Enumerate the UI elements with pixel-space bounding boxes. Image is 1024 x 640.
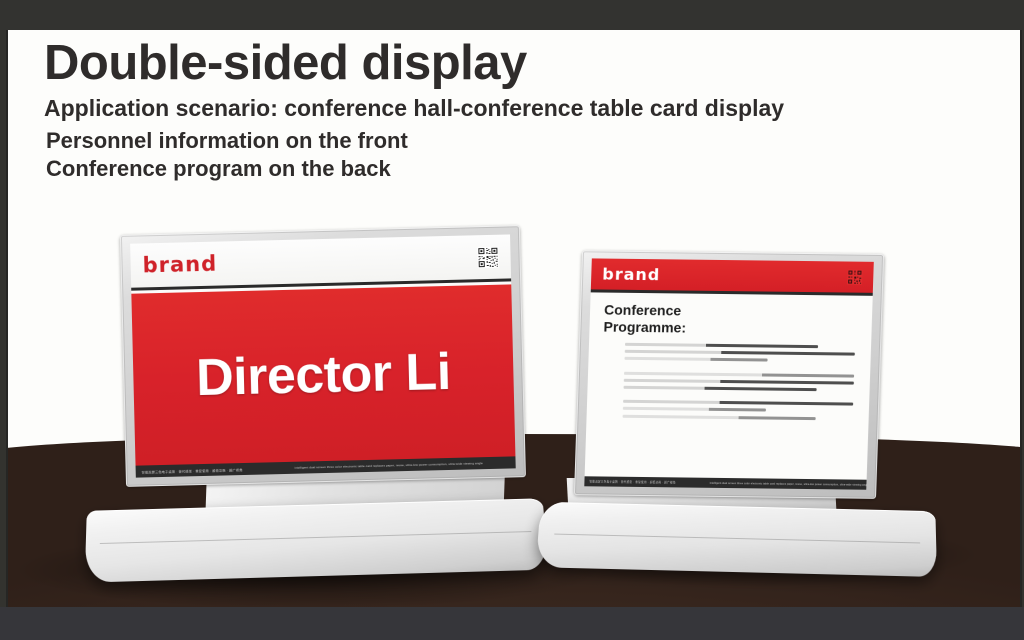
- programme-text-line: [625, 350, 855, 356]
- qr-code-icon: [847, 270, 862, 285]
- programme-text-line: [623, 407, 766, 412]
- front-screen-header: brand: [130, 234, 511, 290]
- front-screen-body: Director Li: [131, 284, 515, 465]
- page-title: Double-sided display: [44, 38, 978, 90]
- attendee-name: Director Li: [195, 342, 451, 408]
- front-stand-base: [85, 498, 549, 582]
- programme-body-text: [623, 343, 856, 420]
- back-card-display[interactable]: brand: [574, 250, 884, 499]
- programme-text-line: [624, 357, 767, 362]
- programme-text-line: [623, 414, 816, 419]
- qr-code-icon: [477, 246, 499, 268]
- front-card-display[interactable]: brand: [120, 225, 526, 487]
- screenshot-stage: Double-sided display Application scenari…: [0, 0, 1024, 640]
- programme-text-line: [625, 343, 818, 348]
- back-footer-cn: 智能双屏三色电子桌牌 · 替代纸张 · 重复使用 · 超低功耗 · 超广视角: [589, 479, 675, 484]
- subtitle-front: Personnel information on the front: [46, 127, 978, 155]
- back-screen-header: brand: [591, 258, 874, 295]
- programme-title: Conference Programme:: [603, 302, 858, 338]
- front-footer-en: intelligent dual screen three color elec…: [295, 461, 483, 470]
- slide-canvas: Double-sided display Application scenari…: [6, 30, 1022, 607]
- back-device-screen[interactable]: brand: [584, 258, 874, 489]
- brand-logo: brand: [142, 252, 217, 278]
- back-stand-base: [536, 502, 937, 577]
- back-screen-body: Conference Programme:: [585, 295, 873, 478]
- heading-block: Double-sided display Application scenari…: [38, 38, 978, 183]
- letterbox-bar-top: [0, 0, 1024, 30]
- programme-title-line-2: Programme:: [603, 318, 858, 338]
- subtitle-back: Conference program on the back: [46, 155, 978, 183]
- programme-text-line: [624, 386, 817, 391]
- letterbox-bar-bottom: [0, 607, 1024, 640]
- programme-text-line: [624, 379, 854, 385]
- brand-logo: brand: [602, 265, 661, 285]
- back-footer-en: intelligent dual screen three color elec…: [710, 481, 867, 486]
- front-footer-cn: 智能双屏三色电子桌牌 · 替代纸张 · 重复使用 · 超低功耗 · 超广视角: [142, 467, 243, 474]
- subtitle-scenario: Application scenario: conference hall-co…: [44, 95, 978, 123]
- front-device-screen[interactable]: brand: [130, 234, 516, 477]
- front-device-stand: [78, 470, 548, 580]
